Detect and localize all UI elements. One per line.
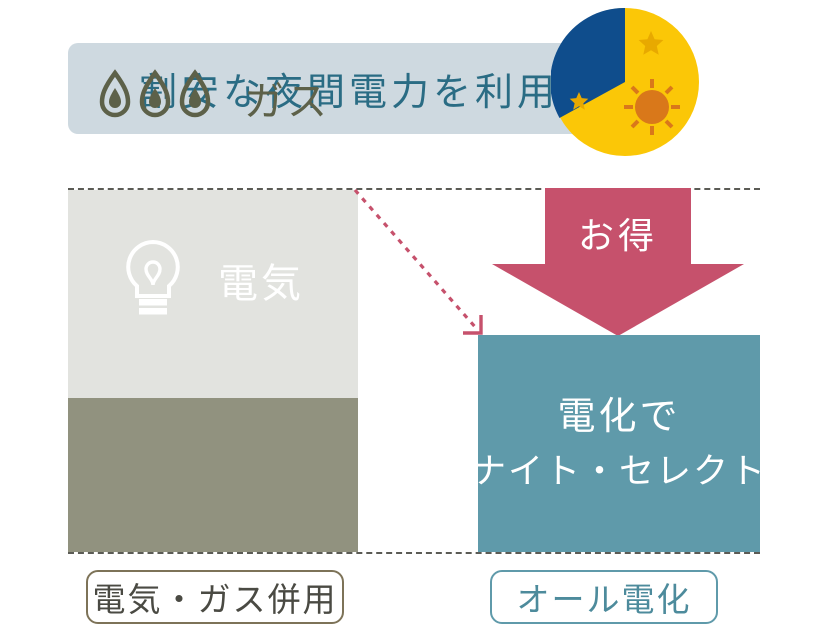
infographic-root: 割安な夜間電力を利用 [0,0,820,640]
electricity-row: 電気 [68,238,358,322]
all-electric-line-2: ナイト・セレクト [471,446,767,499]
all-electric-line-1: 電化で [557,389,680,446]
caption-all-electric: オール電化 [490,570,718,624]
benefit-arrow-label: お得 [492,208,744,258]
lightbulb-icon [122,239,184,321]
electricity-label: 電気 [218,251,304,309]
all-electric-panel: 電化で ナイト・セレクト [478,335,760,552]
day-night-pie-icon [551,8,699,156]
connector-arrow [348,182,494,342]
connector-arrow-svg [348,182,494,342]
electricity-panel [68,398,358,552]
caption-gas-electric-combo: 電気・ガス併用 [86,570,344,624]
flame-icon [96,69,214,127]
gas-row: ガス [68,62,358,134]
frame-bottom-divider [68,552,760,554]
gas-label: ガス [244,69,330,127]
day-night-pie-svg [551,8,699,156]
